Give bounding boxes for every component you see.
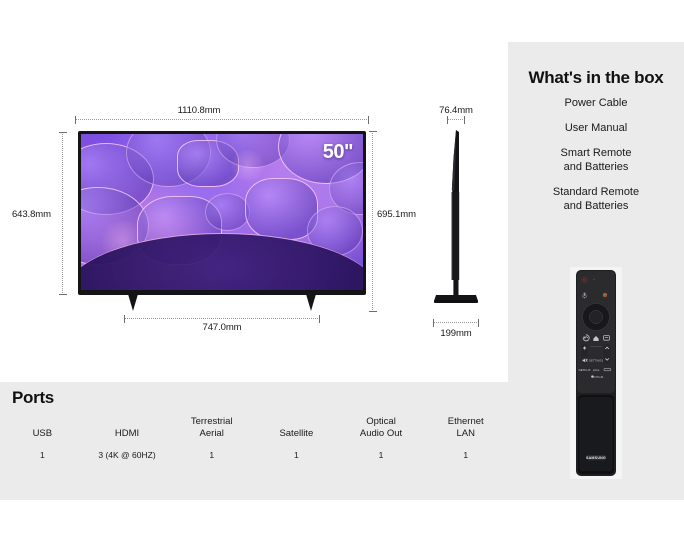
remote-illustration-icon: SETTINGS NETFLIX prime TV PLUS SAMSUNG [570,267,622,479]
port-item-terrestrial-aerial: Terrestrial Aerial 1 [169,416,254,460]
tv-foot-left [128,294,138,311]
port-item-hdmi: HDMI 3 (4K @ 60HZ) [85,428,170,460]
port-count: 3 (4K @ 60HZ) [85,450,170,460]
port-name: Ethernet LAN [423,416,508,440]
screen-size-badge: 50" [323,142,353,162]
dimension-label-height-no-stand: 643.8mm [12,209,51,220]
port-name: Terrestrial Aerial [169,416,254,440]
ports-section-title: Ports [12,388,54,408]
box-item: Smart Remote and Batteries [508,146,684,174]
box-item: Standard Remote and Batteries [508,185,684,213]
port-item-optical-audio-out: Optical Audio Out 1 [339,416,424,460]
dimension-line-width [75,119,369,121]
ports-list: USB 1 HDMI 3 (4K @ 60HZ) Terrestrial Aer… [0,416,508,460]
smart-remote-image: SETTINGS NETFLIX prime TV PLUS SAMSUNG [570,267,622,479]
svg-text:prime: prime [593,368,600,372]
port-item-satellite: Satellite 1 [254,428,339,460]
dimension-label-stand-width: 747.0mm [203,322,242,333]
whats-in-the-box-list: Power Cable User Manual Smart Remote and… [508,96,684,224]
product-spec-page: 50" 1110.8mm 643.8mm 695.1mm 747.0mm [0,0,684,547]
port-name: Optical Audio Out [339,416,424,440]
dimension-line-stand-width [124,318,320,320]
port-name: HDMI [85,428,170,440]
port-count: 1 [169,450,254,460]
port-count: 1 [423,450,508,460]
port-count: 1 [0,450,85,460]
dimension-label-width: 1110.8mm [178,105,221,116]
tv-front-view: 50" [78,131,366,295]
tv-screen: 50" [81,134,363,290]
svg-text:SETTINGS: SETTINGS [589,358,603,362]
port-count: 1 [254,450,339,460]
svg-text:NETFLIX: NETFLIX [579,368,591,372]
port-item-ethernet-lan: Ethernet LAN 1 [423,416,508,460]
tv-side-profile-icon [428,128,484,311]
dimension-line-stand-depth [433,322,479,324]
port-name: USB [0,428,85,440]
port-count: 1 [339,450,424,460]
tv-side-view [428,128,484,311]
dimension-line-height-with-stand [372,131,374,312]
dimension-line-depth [447,119,465,121]
dimension-label-stand-depth: 199mm [440,328,471,339]
dimension-label-depth: 76.4mm [439,105,473,116]
dimension-label-height-with-stand: 695.1mm [377,209,416,220]
whats-in-the-box-title: What's in the box [508,68,684,88]
svg-text:SAMSUNG: SAMSUNG [586,456,606,460]
svg-text:TV PLUS: TV PLUS [592,375,603,379]
port-item-usb: USB 1 [0,428,85,460]
port-name: Satellite [254,428,339,440]
dimension-line-height-no-stand [62,132,64,295]
box-item: User Manual [508,121,684,135]
tv-foot-right [306,294,316,311]
box-item: Power Cable [508,96,684,110]
